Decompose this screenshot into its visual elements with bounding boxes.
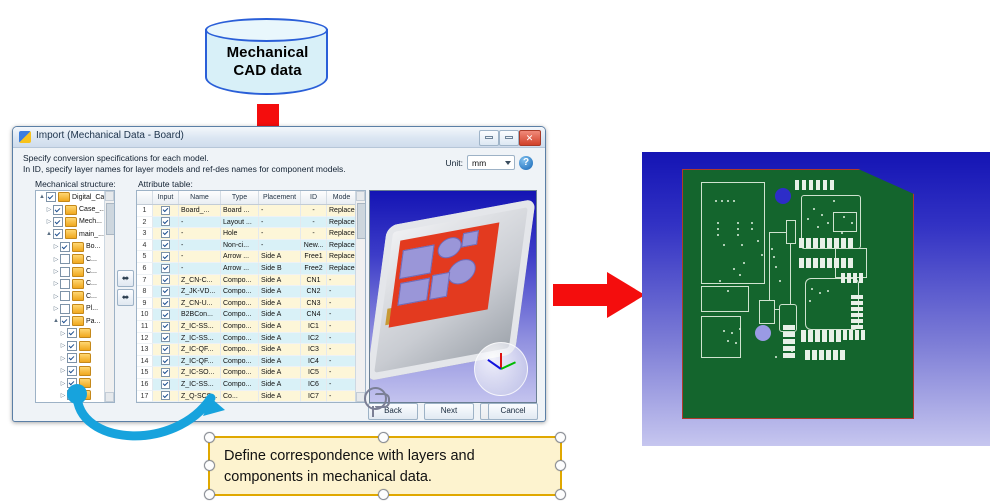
id-cell: Free2 (301, 263, 327, 275)
mechanical-structure-tree[interactable]: ▲Digital_Ca...▷Case_...▷Mech...▲main_...… (35, 190, 115, 403)
input-cell (153, 205, 179, 217)
resize-handle-nw[interactable] (204, 432, 215, 443)
folder-icon (72, 242, 84, 252)
tree-expander-icon[interactable]: ▷ (59, 367, 67, 374)
via-hole (775, 266, 777, 268)
placement-side-cell: Side A (259, 367, 301, 379)
tree-checkbox[interactable] (60, 242, 70, 252)
input-cell (153, 240, 179, 252)
name-cell: Z_IC-QF... (179, 356, 221, 368)
scroll-up-arrow[interactable] (105, 191, 114, 201)
row-checkbox[interactable] (161, 252, 170, 261)
table-row[interactable]: 13Z_IC-QF...Compo...Side AIC3- (137, 344, 365, 356)
name-cell: Board_... (179, 205, 221, 217)
pcb-pad (851, 313, 863, 317)
tree-node[interactable]: ▷Pl... (36, 303, 114, 315)
tree-node-label: Bo... (86, 243, 100, 250)
type-cell: Compo... (221, 356, 259, 368)
via-hole (727, 200, 729, 202)
row-number: 10 (137, 309, 153, 321)
type-cell: Arrow ... (221, 263, 259, 275)
row-number: 13 (137, 344, 153, 356)
mode-cell: Replace (327, 251, 357, 263)
table-row[interactable]: 2-Layout ...--Replace (137, 217, 365, 229)
mode-cell: - (327, 333, 357, 345)
pcb-pad (799, 258, 804, 268)
placement-side-cell: Side A (259, 286, 301, 298)
pcb-pad (819, 350, 824, 360)
tree-node-label: Pl... (86, 305, 98, 312)
name-cell: - (179, 251, 221, 263)
via-hole (821, 214, 823, 216)
tree-node[interactable]: ▷C... (36, 278, 114, 290)
row-number: 6 (137, 263, 153, 275)
placement-side-cell: Side A (259, 344, 301, 356)
tree-checkbox[interactable] (60, 291, 70, 301)
pcb-pad (820, 258, 825, 268)
via-hole (779, 280, 781, 282)
resize-handle-e[interactable] (555, 460, 566, 471)
pcb-pad (759, 300, 775, 324)
tree-expander-icon[interactable]: ▲ (45, 231, 53, 237)
model-3d-preview[interactable] (369, 190, 537, 403)
mode-cell: - (327, 321, 357, 333)
id-cell: New... (301, 240, 327, 252)
via-hole (737, 222, 739, 224)
input-cell (153, 251, 179, 263)
tree-expander-icon[interactable]: ▷ (52, 280, 60, 287)
via-hole (761, 254, 763, 256)
tree-checkbox[interactable] (60, 267, 70, 277)
scroll-up-arrow[interactable] (356, 191, 365, 201)
row-checkbox[interactable] (161, 333, 170, 342)
pcb-board (682, 169, 914, 419)
folder-icon (58, 192, 70, 202)
folder-icon (72, 291, 84, 301)
tree-node[interactable]: ▷C... (36, 290, 114, 302)
unit-select[interactable]: mm (467, 155, 515, 170)
column-header[interactable]: Input (153, 191, 179, 204)
folder-icon (79, 328, 91, 338)
mode-cell: - (327, 275, 357, 287)
row-number: 8 (137, 286, 153, 298)
input-cell (153, 356, 179, 368)
via-hole (723, 244, 725, 246)
pcb-pad (834, 258, 839, 268)
magnifier-stem (372, 406, 374, 417)
pcb-pad (827, 238, 832, 248)
unit-control-group: Unit: mm ? (446, 155, 533, 170)
chip (446, 257, 477, 287)
pcb-pad (853, 273, 857, 283)
tree-expander-icon[interactable]: ▷ (52, 243, 60, 250)
pcb-pad (851, 295, 863, 299)
type-cell: Compo... (221, 333, 259, 345)
type-cell: Compo... (221, 344, 259, 356)
via-hole (773, 256, 775, 258)
callout-box[interactable]: Define correspondence with layers and co… (208, 436, 562, 496)
pcb-pad (848, 258, 853, 268)
table-row[interactable]: 11Z_IC-SS...Compo...Side AIC1- (137, 321, 365, 333)
folder-icon (79, 341, 91, 351)
id-cell: IC6 (301, 379, 327, 391)
folder-icon (72, 254, 84, 264)
pcb-pad (851, 307, 863, 311)
resize-handle-s[interactable] (378, 489, 389, 500)
mode-cell: Replace (327, 217, 357, 229)
row-number: 3 (137, 228, 153, 240)
resize-handle-w[interactable] (204, 460, 215, 471)
tree-node[interactable]: ▲Pa... (36, 315, 114, 327)
input-cell (153, 286, 179, 298)
id-cell: CN2 (301, 286, 327, 298)
tree-checkbox[interactable] (60, 304, 70, 314)
application-icon (19, 131, 31, 143)
cylinder-label-line2: CAD data (205, 62, 330, 80)
via-hole (783, 346, 785, 348)
row-checkbox[interactable] (161, 229, 170, 238)
placement-side-cell: - (259, 240, 301, 252)
tree-checkbox[interactable] (60, 279, 70, 289)
via-hole (741, 244, 743, 246)
type-cell: Layout ... (221, 217, 259, 229)
type-cell: Board ... (221, 205, 259, 217)
table-row[interactable]: 12Z_IC-SS...Compo...Side AIC2- (137, 333, 365, 345)
via-hole (731, 332, 733, 334)
via-hole (735, 342, 737, 344)
name-cell: - (179, 263, 221, 275)
via-hole (841, 232, 843, 234)
tree-node[interactable]: ▷C... (36, 265, 114, 277)
via-hole (733, 268, 735, 270)
folder-icon (72, 316, 84, 326)
via-hole (775, 356, 777, 358)
tree-expander-icon[interactable]: ▲ (52, 318, 60, 324)
cylinder-label-line1: Mechanical (205, 44, 330, 62)
type-cell: Compo... (221, 286, 259, 298)
tree-checkbox[interactable] (60, 316, 70, 326)
tree-checkbox[interactable] (67, 341, 77, 351)
mode-cell: - (327, 344, 357, 356)
resize-handle-ne[interactable] (555, 432, 566, 443)
tree-expander-icon[interactable]: ▷ (59, 330, 67, 337)
row-number: 1 (137, 205, 153, 217)
scrollbar-thumb[interactable] (357, 203, 366, 239)
pointer-origin-dot (67, 384, 87, 404)
tree-node-label: C... (86, 268, 97, 275)
pcb-pad (786, 220, 796, 244)
mechanical-structure-label: Mechanical structure: (35, 179, 116, 189)
tree-expander-icon[interactable]: ▷ (45, 206, 53, 213)
folder-icon (65, 217, 77, 227)
table-row[interactable]: 6-Arrow ...Side BFree2Replace (137, 263, 365, 275)
tree-checkbox[interactable] (46, 192, 56, 202)
pcb-pad (783, 339, 795, 344)
mode-cell: - (327, 379, 357, 391)
row-checkbox[interactable] (161, 275, 170, 284)
pcb-pad (823, 180, 827, 190)
folder-icon (65, 229, 77, 239)
tree-checkbox[interactable] (53, 229, 63, 239)
row-checkbox[interactable] (161, 287, 170, 296)
row-checkbox[interactable] (161, 206, 170, 215)
id-cell: CN4 (301, 309, 327, 321)
input-cell (153, 344, 179, 356)
table-row[interactable]: 3-Hole--Replace (137, 228, 365, 240)
name-cell: - (179, 228, 221, 240)
folder-icon (72, 304, 84, 314)
pcb-pad (833, 212, 857, 232)
tree-node[interactable]: ▷ (36, 364, 114, 376)
pcb-pad (815, 330, 820, 342)
tree-checkbox[interactable] (53, 217, 63, 227)
via-hole (813, 208, 815, 210)
via-hole (811, 288, 813, 290)
chip (399, 244, 435, 279)
pcb-pad (849, 330, 853, 340)
placement-side-cell: Side A (259, 356, 301, 368)
tree-expander-icon[interactable]: ▷ (59, 342, 67, 349)
transfer-right-button-2[interactable]: ⬌ (117, 289, 134, 306)
help-icon[interactable]: ? (519, 156, 533, 170)
arrow-head (607, 272, 645, 318)
callout-text: Define correspondence with layers and co… (224, 446, 550, 488)
pcb-pad (830, 180, 834, 190)
via-hole (751, 222, 753, 224)
chip (461, 230, 479, 247)
table-row[interactable]: 7Z_CN-C...Compo...Side ACN1- (137, 275, 365, 287)
description-line1: Specify conversion specifications for ea… (23, 153, 346, 164)
tree-body: ▲Digital_Ca...▷Case_...▷Mech...▲main_...… (36, 191, 114, 403)
pcb-pad (851, 319, 863, 323)
input-cell (153, 298, 179, 310)
tree-checkbox[interactable] (60, 254, 70, 264)
tree-expander-icon[interactable]: ▷ (52, 293, 60, 300)
tree-scrollbar[interactable] (104, 191, 114, 402)
table-header-row: InputNameTypePlacement sideIDMode (137, 191, 365, 205)
table-row[interactable]: 4-Non-ci...-New...Replace (137, 240, 365, 252)
table-row[interactable]: 1Board_...Board ...--Replace (137, 205, 365, 217)
via-hole (715, 200, 717, 202)
chip (436, 235, 463, 260)
pcb-pad (813, 238, 818, 248)
pcb-pad (833, 350, 838, 360)
pcb-layout-preview (642, 152, 990, 446)
type-cell: Compo... (221, 309, 259, 321)
row-checkbox[interactable] (161, 310, 170, 319)
tree-node[interactable]: ▷Mech... (36, 216, 114, 228)
tree-node[interactable]: ▷ (36, 327, 114, 339)
tree-node-label: main_... (79, 231, 104, 238)
resize-handle-sw[interactable] (204, 489, 215, 500)
unit-value: mm (472, 158, 486, 168)
row-checkbox[interactable] (161, 356, 170, 365)
id-cell: - (301, 217, 327, 229)
red-right-arrow-icon (553, 272, 645, 318)
resize-handle-se[interactable] (555, 489, 566, 500)
tree-expander-icon[interactable]: ▲ (38, 194, 46, 200)
tree-expander-icon[interactable]: ▷ (59, 355, 67, 362)
attribute-table[interactable]: InputNameTypePlacement sideIDMode 1Board… (136, 190, 366, 403)
magnifier-hand (375, 393, 390, 408)
row-checkbox[interactable] (161, 368, 170, 377)
dialog-title: Import (Mechanical Data - Board) (36, 130, 184, 141)
pcb-pad (841, 258, 846, 268)
via-hole (737, 228, 739, 230)
table-scrollbar[interactable] (355, 191, 365, 402)
placement-side-cell: Side A (259, 275, 301, 287)
via-hole (827, 222, 829, 224)
axis-y (501, 361, 516, 370)
column-header[interactable] (137, 191, 153, 204)
scrollbar-thumb[interactable] (106, 203, 115, 235)
row-checkbox[interactable] (161, 240, 170, 249)
pcb-pad (829, 330, 834, 342)
table-row[interactable]: 5-Arrow ...Side AFree1Replace (137, 251, 365, 263)
folder-icon (79, 353, 91, 363)
table-row[interactable]: 10B2BCon...Compo...Side ACN4- (137, 309, 365, 321)
pcb-pad (826, 350, 831, 360)
row-number: 14 (137, 356, 153, 368)
pcb-pad (816, 180, 820, 190)
pcb-pad (701, 316, 741, 358)
via-hole (751, 228, 753, 230)
tree-checkbox[interactable] (67, 328, 77, 338)
description-line2: In ID, specify layer names for layer mod… (23, 164, 346, 175)
tree-expander-icon[interactable]: ▷ (52, 256, 60, 263)
row-checkbox[interactable] (161, 345, 170, 354)
input-cell (153, 309, 179, 321)
column-header[interactable]: Type (221, 191, 259, 204)
tree-node-label: C... (86, 256, 97, 263)
pcb-pad (805, 350, 810, 360)
pcb-pad (820, 238, 825, 248)
tree-expander-icon[interactable]: ▷ (45, 218, 53, 225)
column-header[interactable]: Name (179, 191, 221, 204)
via-hole (719, 280, 721, 282)
via-hole (737, 234, 739, 236)
row-number: 5 (137, 251, 153, 263)
cancel-button[interactable]: Cancel (488, 403, 538, 420)
mounting-via (755, 325, 771, 341)
tree-expander-icon[interactable]: ▷ (52, 305, 60, 312)
dialog-titlebar[interactable]: Import (Mechanical Data - Board) ✕ (13, 127, 545, 148)
mechanical-cad-data-source: Mechanical CAD data (205, 18, 330, 106)
mode-cell: - (327, 286, 357, 298)
type-cell: Hole (221, 228, 259, 240)
mode-cell: Replace (327, 228, 357, 240)
pcb-pad (843, 330, 847, 340)
table-row[interactable]: 14Z_IC-QF...Compo...Side AIC4- (137, 356, 365, 368)
tree-node[interactable]: ▲Digital_Ca... (36, 191, 114, 203)
type-cell: Non-ci... (221, 240, 259, 252)
name-cell: Z_CN-U... (179, 298, 221, 310)
pcb-pad (801, 330, 806, 342)
tree-node[interactable]: ▲main_... (36, 228, 114, 240)
pcb-pad (783, 353, 795, 358)
tree-node[interactable]: ▷C... (36, 253, 114, 265)
arrow-shaft (257, 104, 279, 128)
via-hole (717, 222, 719, 224)
name-cell: Z_IC-SS... (179, 321, 221, 333)
placement-side-cell: - (259, 228, 301, 240)
transfer-right-button[interactable]: ⬌ (117, 270, 134, 287)
tree-node-label: Pa... (86, 318, 100, 325)
tree-node-label: C... (86, 293, 97, 300)
resize-handle-n[interactable] (378, 432, 389, 443)
view-navigation-sphere[interactable] (474, 342, 528, 396)
row-number: 11 (137, 321, 153, 333)
via-hole (809, 300, 811, 302)
via-hole (757, 240, 759, 242)
via-hole (733, 200, 735, 202)
row-checkbox[interactable] (161, 264, 170, 273)
via-hole (727, 290, 729, 292)
next-button[interactable]: Next (424, 403, 474, 420)
cylinder-label: Mechanical CAD data (205, 44, 330, 80)
row-checkbox[interactable] (161, 322, 170, 331)
column-header[interactable]: Mode (327, 191, 357, 204)
minimize-button[interactable] (479, 130, 499, 146)
pcb-pad (806, 258, 811, 268)
tree-checkbox[interactable] (67, 353, 77, 363)
tree-node[interactable]: ▷ (36, 352, 114, 364)
maximize-button[interactable] (499, 130, 519, 146)
input-cell (153, 263, 179, 275)
input-cell (153, 333, 179, 345)
placement-side-cell: Side A (259, 298, 301, 310)
type-cell: Arrow ... (221, 251, 259, 263)
pcb-pad (848, 238, 853, 248)
pcb-pad (822, 330, 827, 342)
row-number: 7 (137, 275, 153, 287)
tree-checkbox[interactable] (53, 205, 63, 215)
placement-side-cell: Side A (259, 309, 301, 321)
mode-cell: - (327, 309, 357, 321)
table-row[interactable]: 8Z_JK-VD...Compo...Side ACN2- (137, 286, 365, 298)
magnifier-cursor-icon (364, 387, 390, 417)
placement-side-cell: Side A (259, 391, 301, 403)
close-button[interactable]: ✕ (519, 130, 541, 146)
pcb-pad (812, 350, 817, 360)
tree-node-label: Case_... (79, 206, 105, 213)
row-checkbox[interactable] (161, 298, 170, 307)
row-checkbox[interactable] (161, 217, 170, 226)
pcb-pad (834, 238, 839, 248)
mode-cell: - (327, 391, 357, 403)
table-row[interactable]: 9Z_CN-U...Compo...Side ACN3- (137, 298, 365, 310)
column-header[interactable]: ID (301, 191, 327, 204)
unit-label: Unit: (446, 158, 463, 168)
mode-cell: - (327, 356, 357, 368)
via-hole (791, 350, 793, 352)
tree-node[interactable]: ▷Case_... (36, 203, 114, 215)
tree-expander-icon[interactable]: ▷ (52, 268, 60, 275)
pcb-pad (827, 258, 832, 268)
type-cell: Compo... (221, 298, 259, 310)
row-number: 2 (137, 217, 153, 229)
name-cell: Z_JK-VD... (179, 286, 221, 298)
id-cell: IC3 (301, 344, 327, 356)
folder-icon (72, 279, 84, 289)
tree-node[interactable]: ▷ (36, 340, 114, 352)
tree-node[interactable]: ▷Bo... (36, 241, 114, 253)
dialog-description: Specify conversion specifications for ea… (23, 153, 346, 175)
name-cell: Z_IC-QF... (179, 344, 221, 356)
column-header[interactable]: Placement side (259, 191, 301, 204)
tree-checkbox[interactable] (67, 366, 77, 376)
tree-node-label: C... (86, 280, 97, 287)
